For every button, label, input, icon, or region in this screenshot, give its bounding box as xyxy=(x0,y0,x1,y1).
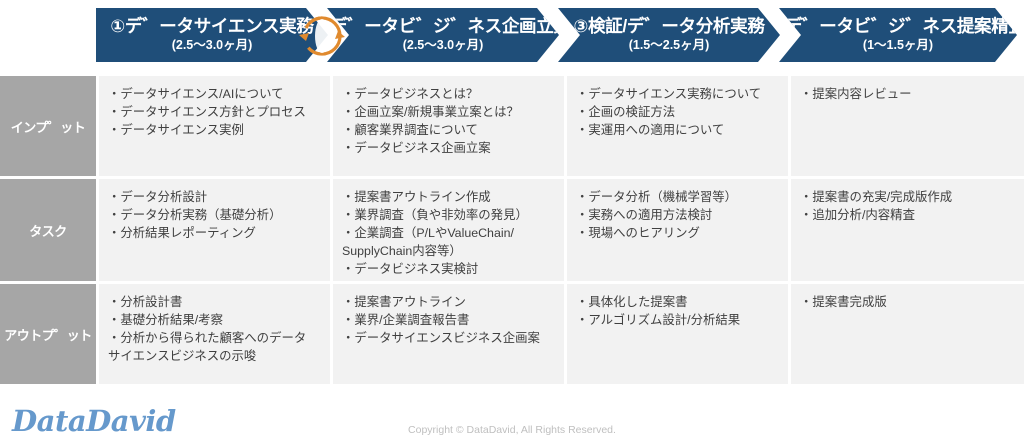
row-label-input: インプ゜ット xyxy=(0,76,96,176)
cell-output-phase4: ・提案書完成版 xyxy=(791,284,1024,384)
cell-text: ・提案書完成版 xyxy=(800,294,1024,312)
cell-text: ・提案内容レビュー xyxy=(800,86,1024,104)
cell-text: ・データサイエンス/AIについて ・データサイエンス方針とプロセス ・データサイ… xyxy=(108,86,321,140)
cell-output-phase3: ・具体化した提案書 ・アルゴリズム設計/分析結果 xyxy=(567,284,788,384)
cell-text: ・データ分析設計 ・データ分析実務（基礎分析） ・分析結果レポーティング xyxy=(108,189,321,243)
cell-input-phase3: ・データサイエンス実務について ・企画の検証方法 ・実運用への適用について xyxy=(567,76,788,176)
phase-duration-2: (2.5～3.0ヶ月) xyxy=(403,39,484,53)
phase-duration-1: (2.5～3.0ヶ月) xyxy=(172,39,253,53)
cell-task-phase3: ・データ分析（機械学習等） ・実務への適用方法検討 ・現場へのヒアリング xyxy=(567,179,788,281)
phase-chevron-1[interactable]: ①デ゛ータサイエンス実務 (2.5～3.0ヶ月) xyxy=(96,8,328,62)
phase-title-3: ③検証/デ゛ータ分析実務 xyxy=(573,17,764,36)
phase-content-grid: インプ゜ット ・データサイエンス/AIについて ・データサイエンス方針とプロセス… xyxy=(0,76,1024,378)
phase-duration-4: (1～1.5ヶ月) xyxy=(863,39,933,53)
cell-text: ・データビジネスとは？ ・企画立案/新規事業立案とは？ ・顧客業界調査について … xyxy=(342,86,555,158)
phase-chevron-2[interactable]: ②デ゛ータビ゛ジ゛ネス企画立案 (2.5～3.0ヶ月) xyxy=(327,8,559,62)
copyright-text: Copyright © DataDavid, All Rights Reserv… xyxy=(0,424,1024,436)
phase-header-row: ①デ゛ータサイエンス実務 (2.5～3.0ヶ月) ②デ゛ータビ゛ジ゛ネス企画立案… xyxy=(0,0,1024,70)
cell-text: ・データサイエンス実務について ・企画の検証方法 ・実運用への適用について xyxy=(576,86,779,140)
cell-text: ・提案書の充実/完成版作成 ・追加分析/内容精査 xyxy=(800,189,1024,225)
cell-text: ・具体化した提案書 ・アルゴリズム設計/分析結果 xyxy=(576,294,779,330)
cell-text: ・データ分析（機械学習等） ・実務への適用方法検討 ・現場へのヒアリング xyxy=(576,189,779,243)
cell-input-phase2: ・データビジネスとは？ ・企画立案/新規事業立案とは？ ・顧客業界調査について … xyxy=(333,76,564,176)
phase-duration-3: (1.5～2.5ヶ月) xyxy=(629,39,710,53)
cell-text: ・分析設計書 ・基礎分析結果/考察 ・分析から得られた顧客へのデータ サイエンス… xyxy=(108,294,321,366)
cell-task-phase4: ・提案書の充実/完成版作成 ・追加分析/内容精査 xyxy=(791,179,1024,281)
row-label-task: タスク xyxy=(0,179,96,281)
phase-chevron-3[interactable]: ③検証/デ゛ータ分析実務 (1.5～2.5ヶ月) xyxy=(558,8,780,62)
phase-chevron-4[interactable]: ④デ゛ータビ゛ジ゛ネス提案精査 (1～1.5ヶ月) xyxy=(779,8,1017,62)
cell-input-phase1: ・データサイエンス/AIについて ・データサイエンス方針とプロセス ・データサイ… xyxy=(99,76,330,176)
phase-title-4: ④デ゛ータビ゛ジ゛ネス提案精査 xyxy=(770,17,1024,36)
cell-output-phase2: ・提案書アウトライン ・業界/企業調査報告書 ・データサイエンスビジネス企画案 xyxy=(333,284,564,384)
cell-text: ・提案書アウトライン ・業界/企業調査報告書 ・データサイエンスビジネス企画案 xyxy=(342,294,555,348)
cell-input-phase4: ・提案内容レビュー xyxy=(791,76,1024,176)
cell-task-phase1: ・データ分析設計 ・データ分析実務（基礎分析） ・分析結果レポーティング xyxy=(99,179,330,281)
slide-canvas: ①デ゛ータサイエンス実務 (2.5～3.0ヶ月) ②デ゛ータビ゛ジ゛ネス企画立案… xyxy=(0,0,1024,444)
cycle-arrows-icon xyxy=(297,11,347,61)
phase-title-1: ①デ゛ータサイエンス実務 xyxy=(110,17,313,36)
phase-title-2: ②デ゛ータビ゛ジ゛ネス企画立案 xyxy=(315,17,570,36)
cell-task-phase2: ・提案書アウトライン作成 ・業界調査（負や非効率の発見） ・企業調査（P/LやV… xyxy=(333,179,564,281)
cell-text: ・提案書アウトライン作成 ・業界調査（負や非効率の発見） ・企業調査（P/LやV… xyxy=(342,189,555,279)
cell-output-phase1: ・分析設計書 ・基礎分析結果/考察 ・分析から得られた顧客へのデータ サイエンス… xyxy=(99,284,330,384)
row-label-output: アウトプ゜ット xyxy=(0,284,96,384)
